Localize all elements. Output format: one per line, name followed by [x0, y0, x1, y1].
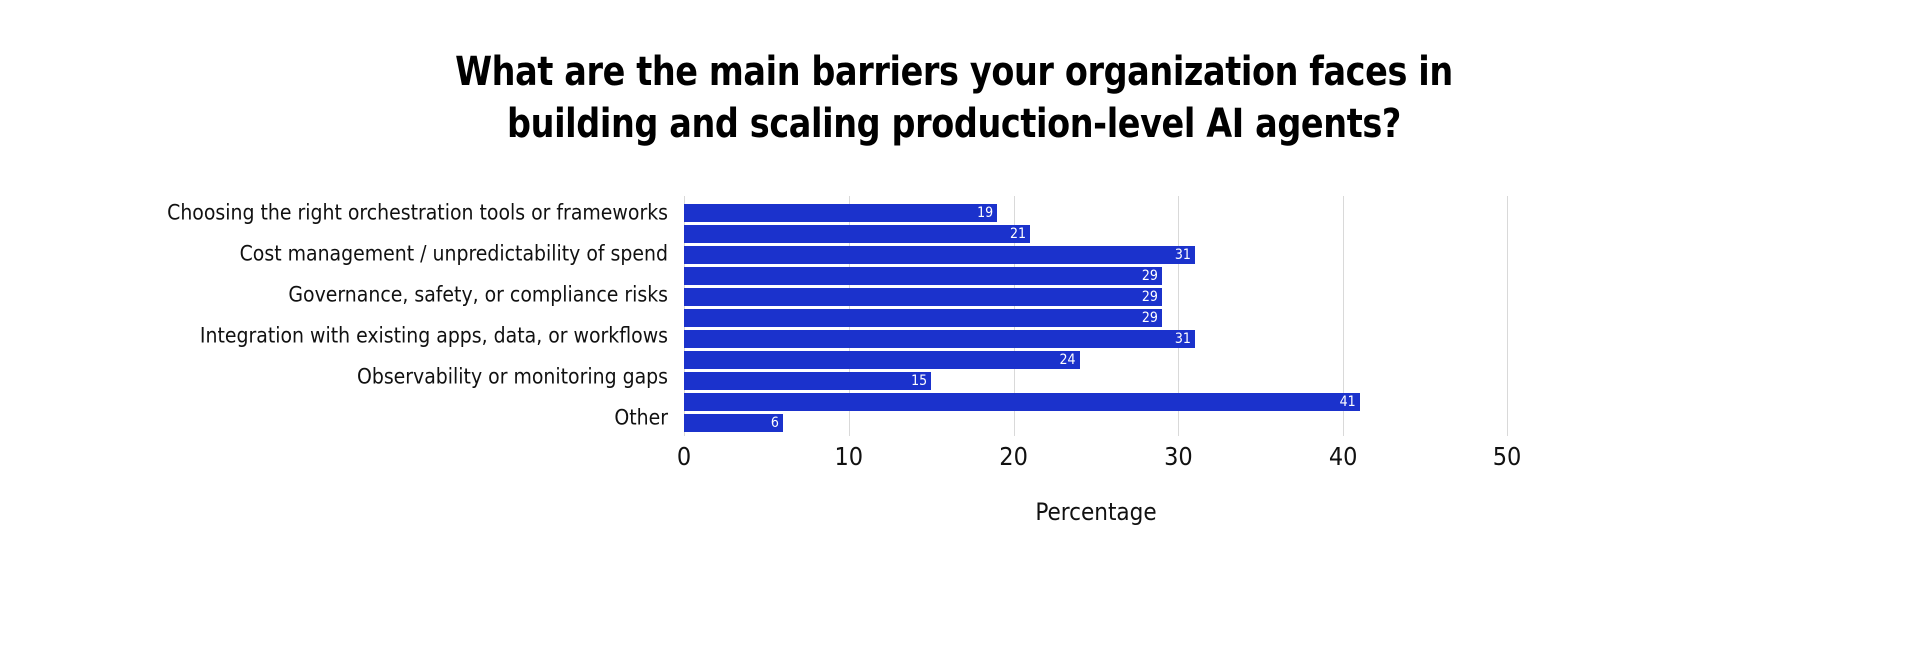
y-axis-label-0: Choosing the right orchestration tools o… — [167, 203, 668, 224]
y-axis-label-1: Cost management / unpredictability of sp… — [240, 244, 668, 265]
bar-8[interactable]: 15 — [684, 372, 931, 390]
bar-value-label-6: 31 — [1175, 332, 1195, 346]
x-tick-label-20: 20 — [999, 444, 1028, 469]
bar-value-label-8: 15 — [911, 374, 931, 388]
y-axis-label-4: Observability or monitoring gaps — [357, 367, 668, 388]
chart-title: What are the main barriers your organiza… — [67, 46, 1841, 150]
x-tick-label-30: 30 — [1164, 444, 1193, 469]
bar-value-label-9: 41 — [1340, 395, 1360, 409]
bar-value-label-5: 29 — [1142, 311, 1162, 325]
bar-3[interactable]: 29 — [684, 267, 1162, 285]
bar-0[interactable]: 19 — [684, 204, 997, 222]
gridline-50 — [1507, 196, 1508, 436]
bar-value-label-1: 21 — [1010, 227, 1030, 241]
x-tick-label-10: 10 — [834, 444, 863, 469]
bar-5[interactable]: 29 — [684, 309, 1162, 327]
bar-2[interactable]: 31 — [684, 246, 1195, 264]
y-axis-category-labels: Choosing the right orchestration tools o… — [0, 196, 668, 456]
bar-4[interactable]: 29 — [684, 288, 1162, 306]
y-axis-label-5: Other — [614, 408, 668, 429]
x-tick-label-0: 0 — [677, 444, 691, 469]
bar-value-label-4: 29 — [1142, 290, 1162, 304]
bar-value-label-0: 19 — [977, 206, 997, 220]
x-tick-label-50: 50 — [1493, 444, 1522, 469]
bar-7[interactable]: 24 — [684, 351, 1080, 369]
bar-value-label-10: 6 — [771, 416, 783, 430]
bar-value-label-7: 24 — [1059, 353, 1079, 367]
bar-1[interactable]: 21 — [684, 225, 1030, 243]
x-axis-title: Percentage — [684, 500, 1508, 524]
plot-area: 19 21 31 29 29 29 31 24 15 41 6 — [684, 196, 1508, 436]
bar-10[interactable]: 6 — [684, 414, 783, 432]
y-axis-label-3: Integration with existing apps, data, or… — [200, 326, 668, 347]
x-tick-label-40: 40 — [1329, 444, 1358, 469]
bar-value-label-3: 29 — [1142, 269, 1162, 283]
bar-9[interactable]: 41 — [684, 393, 1360, 411]
x-axis: 0 10 20 30 40 50 — [684, 436, 1508, 437]
y-axis-label-2: Governance, safety, or compliance risks — [288, 285, 668, 306]
bar-6[interactable]: 31 — [684, 330, 1195, 348]
bar-value-label-2: 31 — [1175, 248, 1195, 262]
